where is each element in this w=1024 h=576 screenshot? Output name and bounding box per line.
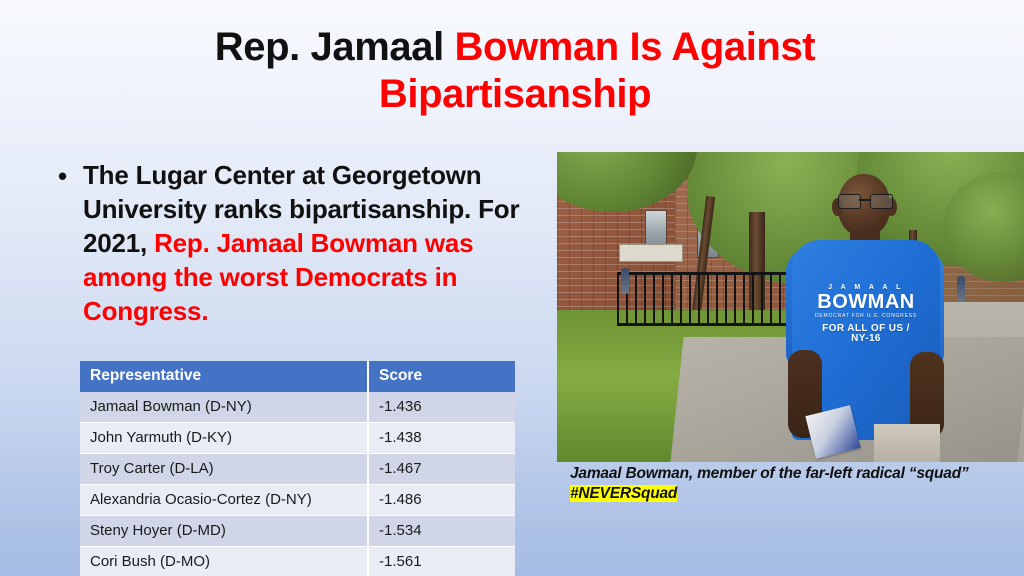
tshirt-tagline-line: FOR ALL OF US / NY-16 xyxy=(814,324,918,344)
photo-caption: Jamaal Bowman, member of the far-left ra… xyxy=(570,464,1022,504)
bullet-point-icon: • xyxy=(58,159,67,193)
cell-representative: Jamaal Bowman (D-NY) xyxy=(80,392,368,423)
cell-representative: Steny Hoyer (D-MD) xyxy=(80,516,368,547)
column-header-representative: Representative xyxy=(80,361,368,392)
cell-score: -1.561 xyxy=(368,547,515,576)
photo-bystander xyxy=(621,268,629,294)
cell-score: -1.534 xyxy=(368,516,515,547)
table-header-row: Representative Score xyxy=(80,361,515,392)
cell-representative: Cori Bush (D-MO) xyxy=(80,547,368,576)
photo-tshirt-print: J A M A A L BOWMAN DEMOCRAT FOR U.S. CON… xyxy=(814,284,918,344)
photo-entrance-awning xyxy=(619,244,683,262)
table-row: Troy Carter (D-LA) -1.467 xyxy=(80,454,515,485)
cell-score: -1.486 xyxy=(368,485,515,516)
photo-lens xyxy=(870,194,893,209)
cell-score: -1.467 xyxy=(368,454,515,485)
table-row: John Yarmuth (D-KY) -1.438 xyxy=(80,423,515,454)
cell-representative: Alexandria Ocasio-Cortez (D-NY) xyxy=(80,485,368,516)
cell-representative: John Yarmuth (D-KY) xyxy=(80,423,368,454)
table-row: Jamaal Bowman (D-NY) -1.436 xyxy=(80,392,515,423)
table-row: Cori Bush (D-MO) -1.561 xyxy=(80,547,515,576)
column-header-score: Score xyxy=(368,361,515,392)
body-bullet-block: • The Lugar Center at Georgetown Univers… xyxy=(58,158,558,328)
photo-scene: J A M A A L BOWMAN DEMOCRAT FOR U.S. CON… xyxy=(557,152,1024,462)
bowman-photo: J A M A A L BOWMAN DEMOCRAT FOR U.S. CON… xyxy=(557,152,1024,462)
cell-score: -1.436 xyxy=(368,392,515,423)
eyeglasses-icon xyxy=(838,194,891,207)
caption-hashtag-highlight: #NEVERSquad xyxy=(570,485,677,502)
bipartisanship-score-table: Representative Score Jamaal Bowman (D-NY… xyxy=(80,361,515,576)
cell-representative: Troy Carter (D-LA) xyxy=(80,454,368,485)
photo-trousers xyxy=(874,424,940,462)
tshirt-name-large: BOWMAN xyxy=(814,292,918,312)
caption-line-1: Jamaal Bowman, member of the far-left ra… xyxy=(570,465,969,482)
page-title: Rep. Jamaal Bowman Is Against Bipartisan… xyxy=(120,24,910,118)
photo-lens xyxy=(838,194,861,209)
table-row: Alexandria Ocasio-Cortez (D-NY) -1.486 xyxy=(80,485,515,516)
page-title-black: Rep. Jamaal xyxy=(215,25,455,69)
cell-score: -1.438 xyxy=(368,423,515,454)
photo-glasses-bridge xyxy=(859,199,870,201)
slide-canvas: Rep. Jamaal Bowman Is Against Bipartisan… xyxy=(0,0,1024,576)
tshirt-tagline-small: DEMOCRAT FOR U.S. CONGRESS xyxy=(814,314,918,319)
photo-person-bowman: J A M A A L BOWMAN DEMOCRAT FOR U.S. CON… xyxy=(762,152,962,462)
body-bullet-text: The Lugar Center at Georgetown Universit… xyxy=(83,158,558,328)
table-row: Steny Hoyer (D-MD) -1.534 xyxy=(80,516,515,547)
tshirt-name-small: J A M A A L xyxy=(814,284,918,291)
